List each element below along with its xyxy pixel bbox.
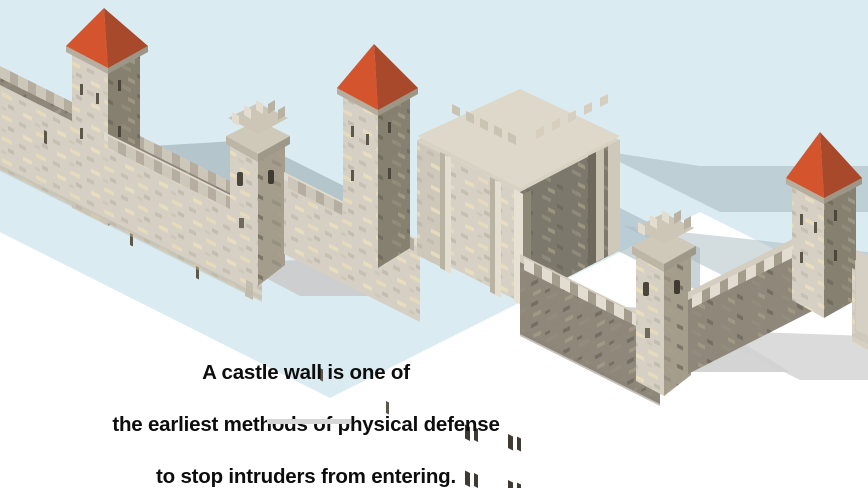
right-front-wall bbox=[856, 250, 868, 336]
caption-line-3: to stop intruders from entering. bbox=[0, 464, 612, 488]
caption-text: A castle wall is one of the earliest met… bbox=[0, 334, 612, 488]
accent-divider bbox=[267, 419, 351, 424]
slide-canvas: A castle wall is one of the earliest met… bbox=[0, 0, 868, 488]
caption-line-1: A castle wall is one of bbox=[0, 360, 612, 386]
keep-pilasters-dark bbox=[588, 140, 620, 266]
tall-tower-center bbox=[337, 44, 418, 268]
caption-line-2: the earliest methods of physical defense bbox=[0, 412, 612, 438]
